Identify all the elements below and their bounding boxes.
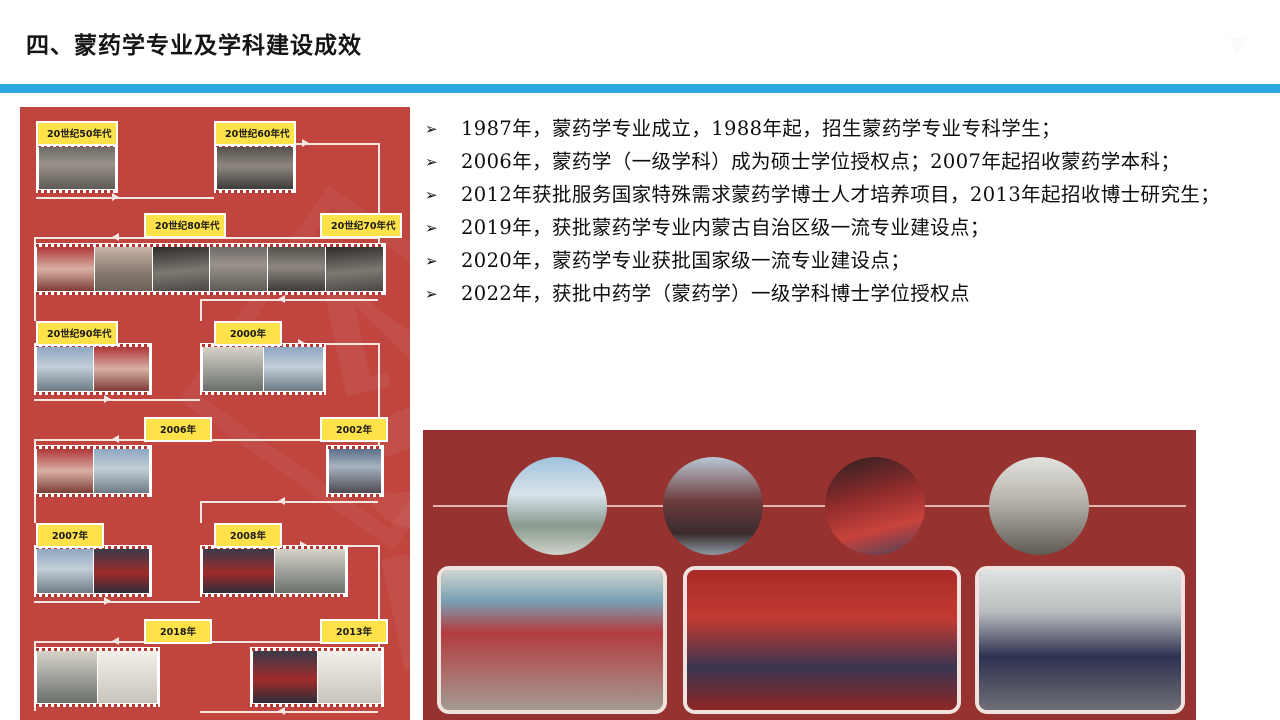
page-title: 四、蒙药学专业及学科建设成效 (26, 26, 362, 60)
bullet-arrow-icon: ➢ (425, 213, 461, 243)
timeline-connector (36, 197, 214, 199)
list-item-text: 2020年，蒙药学专业获批国家级一流专业建设点； (461, 246, 1225, 276)
list-item-text: 2019年，获批蒙药学专业内蒙古自治区级一流专业建设点； (461, 213, 1225, 243)
timeline-label-2007: 2007年 (36, 523, 104, 548)
timeline-label-1990s: 20世纪90年代 (36, 321, 118, 346)
list-item-text: 2022年，获批中药学（蒙药学）一级学科博士学位授权点 (461, 279, 1225, 309)
timeline-connector (34, 601, 200, 603)
timeline-arrow (112, 637, 119, 645)
timeline-connector (348, 545, 378, 547)
timeline-infographic: 2021 20世纪50年代 20世纪60年代 20世纪80年代 20世纪70年代… (20, 107, 410, 720)
timeline-arrow (104, 395, 111, 403)
timeline-label-2008: 2008年 (214, 523, 282, 548)
oval-campus-building-photo (507, 457, 607, 555)
timeline-photo-2002 (326, 445, 384, 497)
timeline-photo-2000 (200, 343, 326, 395)
bullet-arrow-icon: ➢ (425, 114, 461, 144)
list-item: ➢ 2020年，蒙药学专业获批国家级一流专业建设点； (425, 246, 1225, 276)
timeline-photo-1970s-1980s (34, 243, 386, 295)
timeline-arrow (278, 295, 285, 303)
oval-hooding-ceremony-photo (825, 457, 925, 555)
timeline-photo-2013 (250, 647, 384, 707)
timeline-arrow (278, 497, 285, 505)
timeline-label-1950s: 20世纪50年代 (36, 121, 118, 146)
timeline-photo-2007 (34, 545, 152, 597)
timeline-connector (200, 501, 202, 523)
timeline-photo-1950s (36, 143, 118, 193)
timeline-label-1960s: 20世纪60年代 (214, 121, 296, 146)
timeline-arrow (278, 707, 285, 715)
timeline-photo-2006 (34, 445, 152, 497)
oval-podium-speaker-photo (663, 457, 763, 555)
timeline-label-2018: 2018年 (144, 619, 212, 644)
list-item: ➢ 2022年，获批中药学（蒙药学）一级学科博士学位授权点 (425, 279, 1225, 309)
achievement-bullet-list: ➢ 1987年，蒙药学专业成立，1988年起，招生蒙药学专业专科学生； ➢ 20… (425, 114, 1225, 312)
timeline-connector (326, 343, 378, 345)
timeline-label-2013: 2013年 (320, 619, 388, 644)
timeline-label-1970s: 20世纪70年代 (320, 213, 402, 238)
frame-graduation-group-photo (437, 566, 667, 714)
timeline-connector (200, 501, 378, 503)
corner-watermark-icon (1224, 33, 1250, 59)
list-item-text: 1987年，蒙药学专业成立，1988年起，招生蒙药学专业专科学生； (461, 114, 1225, 144)
timeline-label-1980s: 20世纪80年代 (144, 213, 226, 238)
list-item-text: 2006年，蒙药学（一级学科）成为硕士学位授权点；2007年起招收蒙药学本科； (461, 147, 1225, 177)
timeline-photo-2008 (200, 545, 348, 597)
oval-classroom-photo (989, 457, 1089, 555)
timeline-arrow (112, 435, 119, 443)
frame-graduates-outdoor-photo (975, 566, 1185, 714)
list-item: ➢ 2006年，蒙药学（一级学科）成为硕士学位授权点；2007年起招收蒙药学本科… (425, 147, 1225, 177)
timeline-photo-1990s (34, 343, 152, 395)
list-item: ➢ 2012年获批服务国家特殊需求蒙药学博士人才培养项目，2013年起招收博士研… (425, 180, 1225, 210)
bullet-arrow-icon: ➢ (425, 246, 461, 276)
list-item-text: 2012年获批服务国家特殊需求蒙药学博士人才培养项目，2013年起招收博士研究生… (461, 180, 1225, 210)
bullet-arrow-icon: ➢ (425, 180, 461, 210)
timeline-connector (200, 299, 202, 321)
timeline-label-2000: 2000年 (214, 321, 282, 346)
bullet-arrow-icon: ➢ (425, 279, 461, 309)
timeline-arrow (104, 597, 111, 605)
photo-collage-panel (423, 430, 1196, 720)
timeline-arrow (302, 139, 309, 147)
timeline-connector (34, 399, 200, 401)
timeline-label-2006: 2006年 (144, 417, 212, 442)
timeline-connector (200, 299, 378, 301)
list-item: ➢ 2019年，获批蒙药学专业内蒙古自治区级一流专业建设点； (425, 213, 1225, 243)
timeline-arrow (112, 193, 119, 201)
timeline-photo-1960s (214, 143, 296, 193)
list-item: ➢ 1987年，蒙药学专业成立，1988年起，招生蒙药学专业专科学生； (425, 114, 1225, 144)
timeline-photo-2018 (34, 647, 160, 707)
timeline-arrow (112, 233, 119, 241)
timeline-connector (200, 711, 378, 713)
frame-degree-award-photo (683, 566, 961, 714)
title-divider (0, 84, 1280, 93)
bullet-arrow-icon: ➢ (425, 147, 461, 177)
timeline-label-2002: 2002年 (320, 417, 388, 442)
